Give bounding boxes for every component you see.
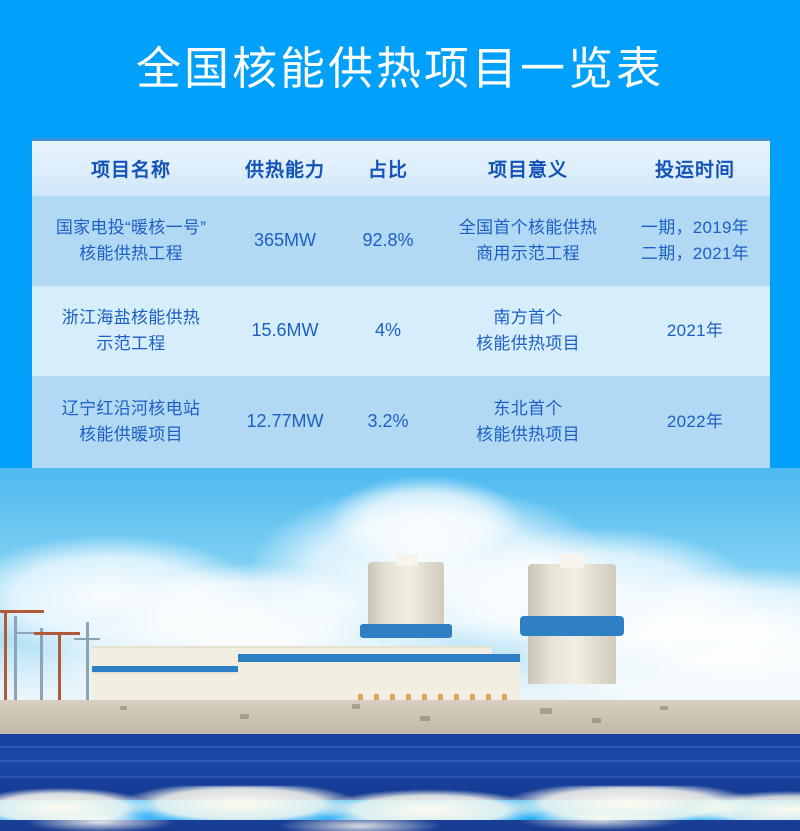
wave-foam-secondary bbox=[0, 812, 800, 831]
cell-heating-capacity: 15.6MW bbox=[230, 286, 340, 376]
construction-crane bbox=[0, 610, 44, 613]
cell-project-name: 辽宁红沿河核电站 核能供暖项目 bbox=[32, 376, 230, 468]
cell-share: 3.2% bbox=[340, 376, 436, 468]
page-title: 全国核能供热项目一览表 bbox=[0, 44, 800, 94]
nuclear-heating-projects-table: 项目名称 供热能力 占比 项目意义 投运时间 国家电投“暖核一号” 核能供热工程… bbox=[32, 138, 770, 471]
cloud-icon bbox=[330, 476, 520, 566]
column-header-heating-capacity: 供热能力 bbox=[230, 141, 340, 196]
transmission-pylon bbox=[14, 616, 17, 702]
cell-commission-date: 2021年 bbox=[620, 286, 770, 376]
cooling-tower-band bbox=[360, 624, 452, 638]
transmission-pylon bbox=[40, 628, 43, 702]
cell-significance: 南方首个 核能供热项目 bbox=[436, 286, 620, 376]
construction-crane bbox=[34, 632, 80, 635]
table-body: 国家电投“暖核一号” 核能供热工程 365MW 92.8% 全国首个核能供热 商… bbox=[32, 196, 770, 468]
cell-heating-capacity: 12.77MW bbox=[230, 376, 340, 468]
cell-significance: 全国首个核能供热 商用示范工程 bbox=[436, 196, 620, 286]
table-header-row: 项目名称 供热能力 占比 项目意义 投运时间 bbox=[32, 141, 770, 196]
cell-project-name: 国家电投“暖核一号” 核能供热工程 bbox=[32, 196, 230, 286]
cooling-tower-cap bbox=[396, 554, 418, 566]
table-header: 项目名称 供热能力 占比 项目意义 投运时间 bbox=[32, 141, 770, 196]
containment-band bbox=[520, 616, 624, 636]
column-header-significance: 项目意义 bbox=[436, 141, 620, 196]
turbine-hall-east-roof-band bbox=[238, 654, 520, 662]
cell-heating-capacity: 365MW bbox=[230, 196, 340, 286]
cell-commission-date: 一期，2019年 二期，2021年 bbox=[620, 196, 770, 286]
page-root: 全国核能供热项目一览表 项目名称 供热能力 占比 项目意义 投运时间 国家电投“… bbox=[0, 0, 800, 831]
table-row: 辽宁红沿河核电站 核能供暖项目 12.77MW 3.2% 东北首个 核能供热项目… bbox=[32, 376, 770, 468]
column-header-commission-date: 投运时间 bbox=[620, 141, 770, 196]
table-row: 国家电投“暖核一号” 核能供热工程 365MW 92.8% 全国首个核能供热 商… bbox=[32, 196, 770, 286]
nuclear-plant-photo bbox=[0, 468, 800, 831]
cell-share: 4% bbox=[340, 286, 436, 376]
column-header-share: 占比 bbox=[340, 141, 436, 196]
cell-project-name: 浙江海盐核能供热 示范工程 bbox=[32, 286, 230, 376]
table-row: 浙江海盐核能供热 示范工程 15.6MW 4% 南方首个 核能供热项目 2021… bbox=[32, 286, 770, 376]
shoreline bbox=[0, 700, 800, 738]
containment-cap bbox=[560, 554, 584, 568]
construction-crane bbox=[4, 610, 7, 706]
construction-crane bbox=[58, 632, 61, 706]
cell-commission-date: 2022年 bbox=[620, 376, 770, 468]
transmission-pylon bbox=[86, 622, 89, 704]
cooling-tower bbox=[368, 562, 444, 628]
column-header-project-name: 项目名称 bbox=[32, 141, 230, 196]
cell-significance: 东北首个 核能供热项目 bbox=[436, 376, 620, 468]
transmission-pylon bbox=[74, 638, 100, 640]
projects-table: 项目名称 供热能力 占比 项目意义 投运时间 国家电投“暖核一号” 核能供热工程… bbox=[32, 141, 770, 468]
cell-share: 92.8% bbox=[340, 196, 436, 286]
